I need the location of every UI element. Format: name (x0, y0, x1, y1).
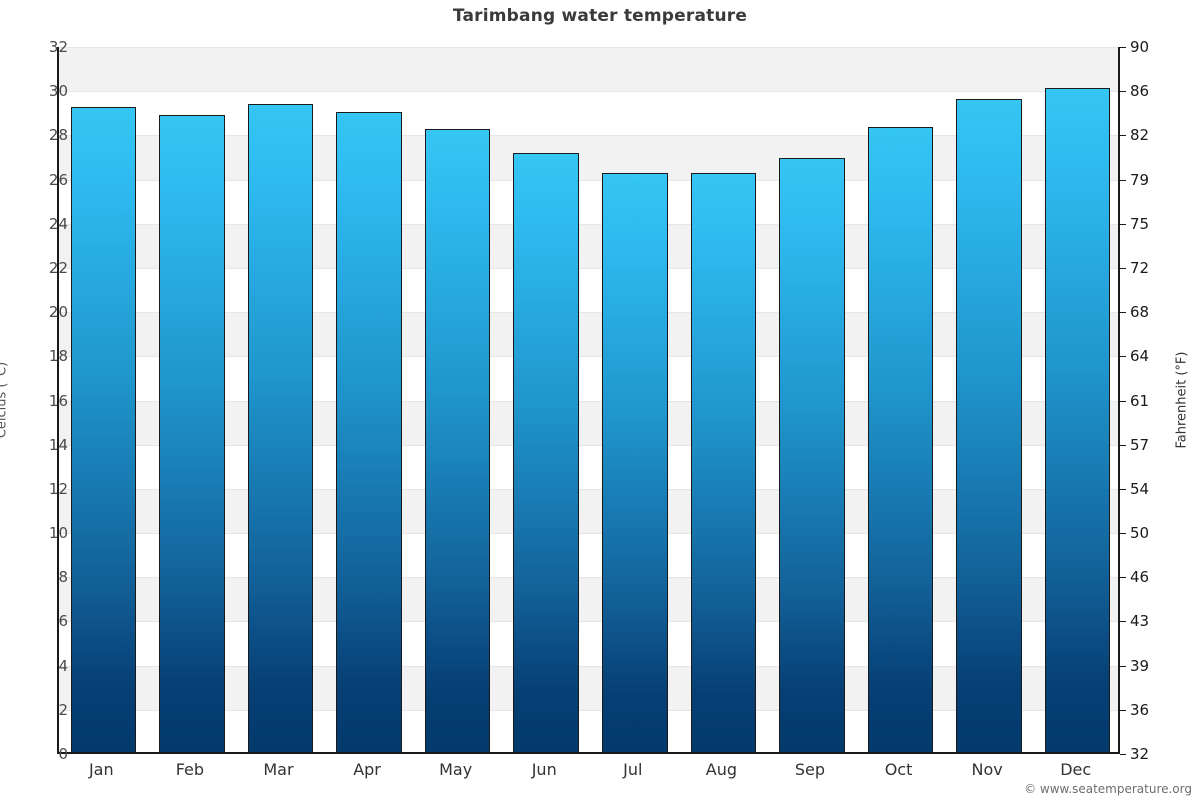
y-tick-left-label: 6 (28, 612, 68, 630)
x-tick-oct: Oct (885, 760, 913, 779)
x-tick-apr: Apr (353, 760, 381, 779)
y-tick-left-label: 20 (28, 303, 68, 321)
y-tick-mark-right (1120, 666, 1126, 667)
y-tick-mark-right (1120, 312, 1126, 313)
y-tick-left-label: 12 (28, 480, 68, 498)
y-tick-left-label: 14 (28, 436, 68, 454)
y-tick-right-label: 79 (1130, 171, 1170, 189)
y-tick-mark-right (1120, 710, 1126, 711)
y-tick-mark-right (1120, 356, 1126, 357)
bar-nov (956, 99, 1022, 752)
bar-jun (513, 153, 579, 752)
y-tick-right-label: 39 (1130, 657, 1170, 675)
y-tick-right-label: 50 (1130, 524, 1170, 542)
x-tick-may: May (439, 760, 472, 779)
y-tick-left-label: 28 (28, 126, 68, 144)
y-tick-mark-right (1120, 489, 1126, 490)
y-tick-right-label: 32 (1130, 745, 1170, 763)
water-temperature-chart: Tarimbang water temperature 024681012141… (0, 0, 1200, 800)
y-tick-mark-right (1120, 445, 1126, 446)
y-tick-right-label: 82 (1130, 126, 1170, 144)
bar-oct (868, 127, 934, 752)
y-tick-mark-right (1120, 135, 1126, 136)
y-tick-mark-right (1120, 47, 1126, 48)
bar-jan (71, 107, 137, 752)
bar-feb (159, 115, 225, 752)
page-title: Tarimbang water temperature (0, 6, 1200, 26)
y-tick-right-label: 61 (1130, 392, 1170, 410)
x-tick-jun: Jun (532, 760, 557, 779)
x-tick-nov: Nov (972, 760, 1003, 779)
x-tick-jan: Jan (89, 760, 114, 779)
y-tick-left-label: 0 (28, 745, 68, 763)
y-tick-left-label: 30 (28, 82, 68, 100)
bar-aug (691, 173, 757, 752)
y-tick-left-label: 18 (28, 347, 68, 365)
plot-area (57, 47, 1120, 754)
y-tick-left-label: 2 (28, 701, 68, 719)
bar-apr (336, 112, 402, 752)
x-tick-dec: Dec (1060, 760, 1091, 779)
y-tick-left-label: 8 (28, 568, 68, 586)
y-tick-right-label: 46 (1130, 568, 1170, 586)
y-tick-right-label: 86 (1130, 82, 1170, 100)
y-tick-left-label: 24 (28, 215, 68, 233)
x-tick-sep: Sep (795, 760, 825, 779)
y-tick-left-label: 10 (28, 524, 68, 542)
copyright-notice: © www.seatemperature.org (1024, 782, 1192, 796)
y-tick-right-label: 54 (1130, 480, 1170, 498)
y-tick-right-label: 64 (1130, 347, 1170, 365)
x-tick-feb: Feb (176, 760, 204, 779)
y-tick-mark-right (1120, 533, 1126, 534)
y-tick-mark-right (1120, 268, 1126, 269)
y-axis-left-label: Celcius (°C) (0, 300, 10, 500)
bar-jul (602, 173, 668, 752)
y-axis-right-label: Fahrenheit (°F) (1175, 300, 1190, 500)
y-tick-right-label: 75 (1130, 215, 1170, 233)
x-tick-jul: Jul (623, 760, 642, 779)
y-tick-mark-right (1120, 401, 1126, 402)
y-tick-right-label: 57 (1130, 436, 1170, 454)
y-tick-mark-right (1120, 224, 1126, 225)
y-tick-left-label: 22 (28, 259, 68, 277)
y-tick-right-label: 72 (1130, 259, 1170, 277)
bar-may (425, 129, 491, 752)
y-tick-left-label: 26 (28, 171, 68, 189)
y-tick-left-label: 16 (28, 392, 68, 410)
bar-series (59, 47, 1118, 752)
y-tick-right-label: 36 (1130, 701, 1170, 719)
y-tick-mark-right (1120, 621, 1126, 622)
y-tick-left-label: 32 (28, 38, 68, 56)
bar-dec (1045, 88, 1111, 752)
y-tick-mark-right (1120, 577, 1126, 578)
y-tick-right-label: 43 (1130, 612, 1170, 630)
x-tick-aug: Aug (706, 760, 737, 779)
bar-mar (248, 104, 314, 752)
bar-sep (779, 158, 845, 752)
x-tick-mar: Mar (263, 760, 293, 779)
y-tick-mark-right (1120, 180, 1126, 181)
y-tick-mark-right (1120, 754, 1126, 755)
y-tick-left-label: 4 (28, 657, 68, 675)
y-tick-right-label: 68 (1130, 303, 1170, 321)
y-tick-mark-right (1120, 91, 1126, 92)
y-tick-right-label: 90 (1130, 38, 1170, 56)
